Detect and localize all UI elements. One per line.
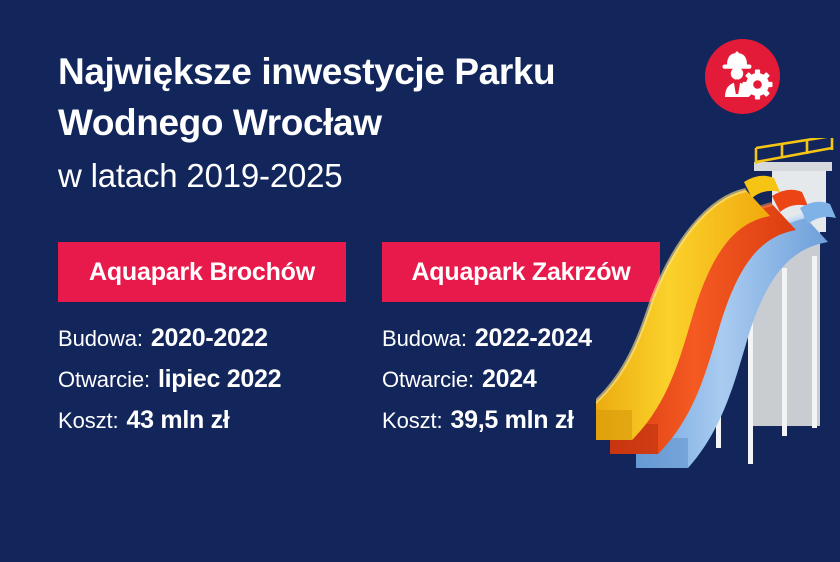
park-badge-brochow: Aquapark Brochów [58,242,346,302]
fact-value: 43 mln zł [127,406,230,435]
fact-row: Budowa: 2020-2022 [58,324,348,365]
fact-value: 39,5 mln zł [451,406,574,435]
footer: Urząd Miejski Wrocławia wroclaw.pl [0,488,840,550]
fact-value: 2020-2022 [151,324,268,353]
fact-row: Otwarcie: lipiec 2022 [58,365,348,406]
infographic-canvas: Największe inwestycje Parku Wodnego Wroc… [0,0,840,562]
fact-value: 2024 [482,365,536,394]
fact-label: Otwarcie: [58,367,150,393]
fact-label: Otwarcie: [382,367,474,393]
waterslide-illustration [596,138,840,468]
fact-label: Koszt: [382,408,443,434]
fact-value: lipiec 2022 [158,365,281,394]
page-subtitle: w latach 2019-2025 [58,152,678,200]
fact-label: Budowa: [58,326,143,352]
header-title-block: Największe inwestycje Parku Wodnego Wroc… [58,46,678,200]
fact-label: Koszt: [58,408,119,434]
worker-gear-icon [705,39,780,114]
fact-value: 2022-2024 [475,324,592,353]
page-title-line-1: Największe inwestycje Parku [58,46,678,97]
fact-row: Koszt: 43 mln zł [58,406,348,447]
column-aquapark-brochow: Aquapark Brochów Budowa: 2020-2022 Otwar… [58,242,348,447]
fact-label: Budowa: [382,326,467,352]
facts-list-brochow: Budowa: 2020-2022 Otwarcie: lipiec 2022 … [58,324,348,447]
page-title-line-2: Wodnego Wrocław [58,97,678,148]
